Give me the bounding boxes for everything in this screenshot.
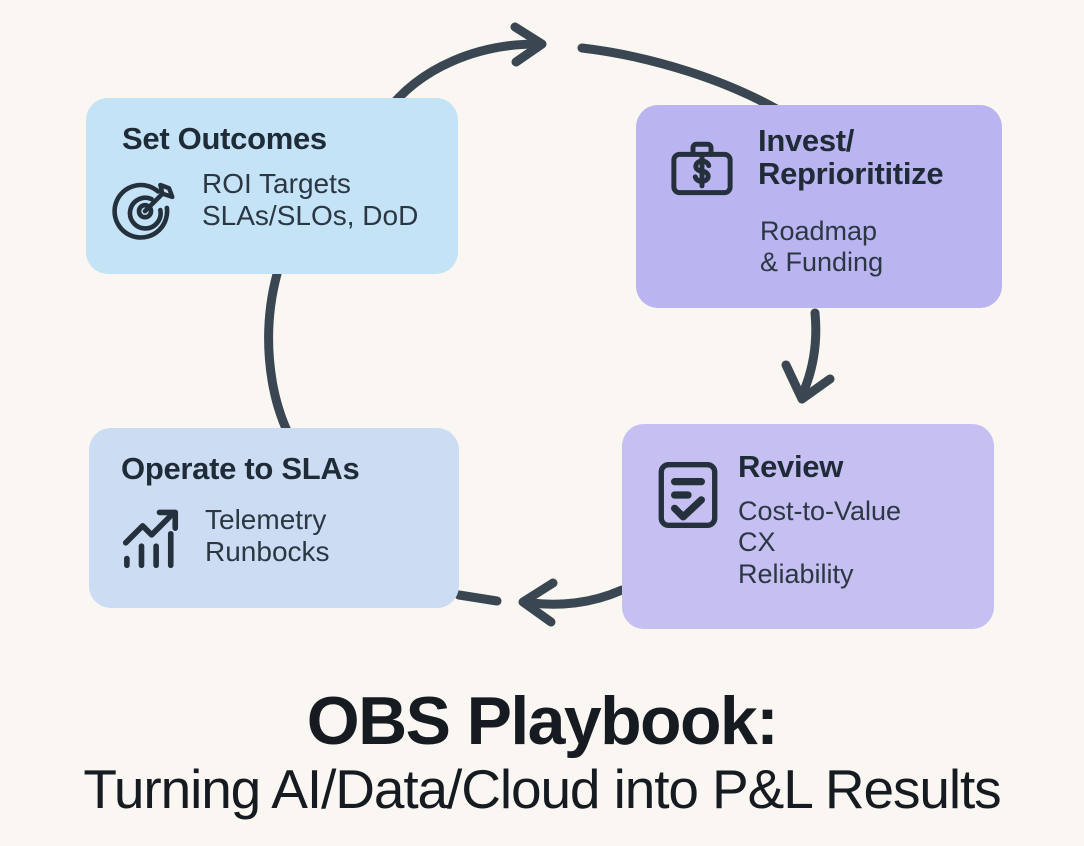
growth-chart-icon [119,500,191,572]
clipboard-check-icon [654,456,722,534]
node-invest[interactable]: Invest/ Repriorititize Roadmap & Funding [636,105,1002,308]
node-review-body-line-1: Cost-to-Value [738,496,901,527]
node-set-outcomes[interactable]: Set Outcomes ROI Targets SLAs/SLOs, DoD [86,98,458,274]
node-set-outcomes-title: Set Outcomes [122,122,327,155]
node-review-body-line-2: CX [738,527,901,558]
node-set-outcomes-body: ROI Targets SLAs/SLOs, DoD [202,168,418,233]
node-invest-body-line-2: & Funding [760,247,883,278]
connector-operate-to-set-outcomes [269,274,288,433]
node-invest-title: Invest/ Repriorititize [758,124,943,191]
node-review[interactable]: Review Cost-to-Value CX Reliability [622,424,994,629]
caption-title: OBS Playbook: [0,686,1084,757]
node-review-title: Review [738,450,843,483]
node-invest-body: Roadmap & Funding [760,216,883,279]
diagram-canvas: Set Outcomes ROI Targets SLAs/SLOs, DoD [0,0,1084,846]
connector-invest-to-review [786,313,830,399]
node-invest-title-line-2: Repriorititize [758,157,943,190]
target-arrow-icon [108,174,182,244]
node-review-body: Cost-to-Value CX Reliability [738,496,901,590]
briefcase-dollar-icon [666,133,738,205]
node-review-content: Review Cost-to-Value CX Reliability [622,424,994,629]
node-set-outcomes-body-line-1: ROI Targets [202,168,418,200]
node-operate-content: Operate to SLAs Telemetry Runbocks [89,428,459,608]
node-invest-content: Invest/ Repriorititize Roadmap & Funding [636,105,1002,308]
node-operate[interactable]: Operate to SLAs Telemetry Runbocks [89,428,459,608]
node-set-outcomes-body-line-2: SLAs/SLOs, DoD [202,200,418,232]
node-operate-body-line-2: Runbocks [205,536,330,568]
node-review-body-line-3: Reliability [738,559,901,590]
caption-subtitle: Turning AI/Data/Cloud into P&L Results [0,759,1084,821]
caption: OBS Playbook: Turning AI/Data/Cloud into… [0,686,1084,820]
node-operate-body-line-1: Telemetry [205,504,330,536]
connector-review-to-operate [459,583,622,622]
node-operate-title: Operate to SLAs [121,452,359,485]
node-invest-title-line-1: Invest/ [758,124,943,157]
node-set-outcomes-content: Set Outcomes ROI Targets SLAs/SLOs, DoD [86,98,458,274]
node-invest-body-line-1: Roadmap [760,216,883,247]
node-operate-body: Telemetry Runbocks [205,504,330,569]
